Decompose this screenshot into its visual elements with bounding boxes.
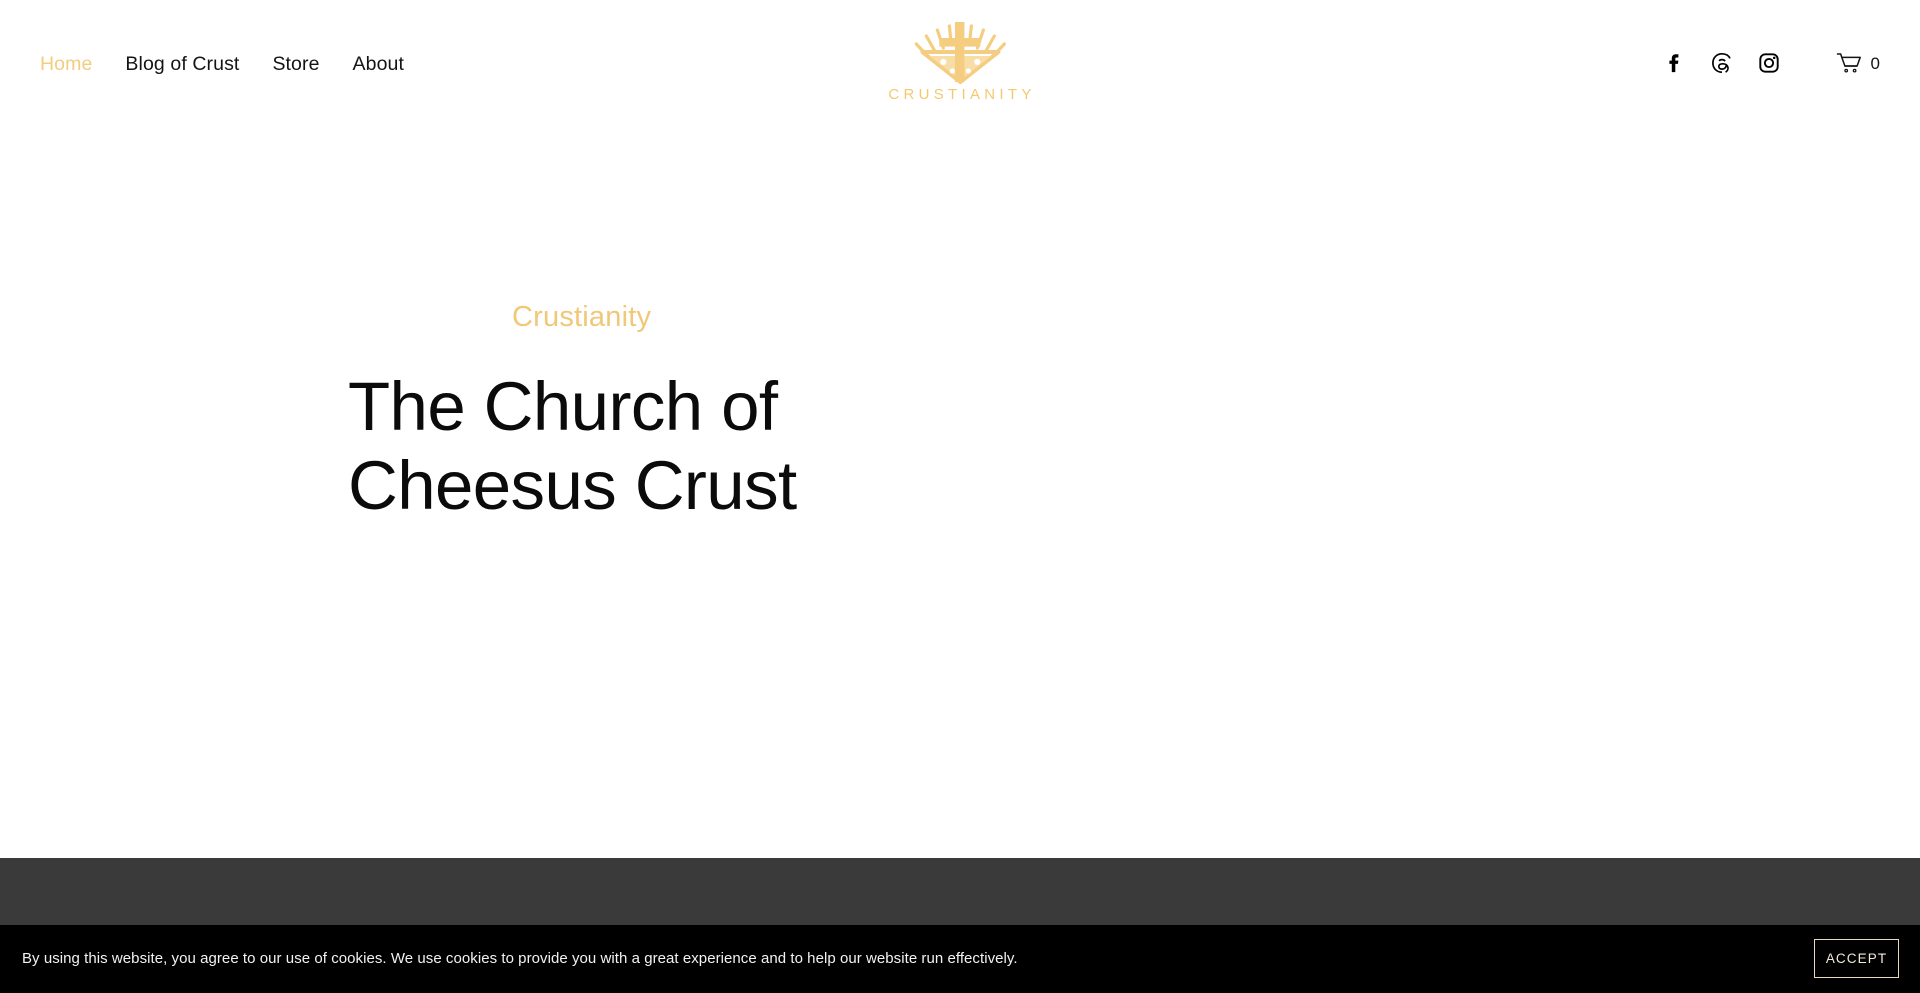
primary-navigation: Home Blog of Crust Store About — [40, 55, 404, 75]
social-links — [1662, 50, 1782, 76]
nav-link-home[interactable]: Home — [40, 55, 92, 75]
instagram-link[interactable] — [1756, 50, 1782, 76]
site-logo[interactable]: CRUSTIANITY — [884, 14, 1035, 102]
facebook-link[interactable] — [1662, 50, 1688, 76]
header-actions: 0 — [1662, 50, 1880, 76]
hero-title: The Church of Cheesus Crust — [348, 367, 1248, 526]
threads-link[interactable] — [1709, 50, 1735, 76]
facebook-icon — [1663, 51, 1687, 75]
shopping-cart-icon — [1836, 52, 1862, 74]
nav-link-store[interactable]: Store — [272, 55, 319, 75]
hero-content: Crustianity The Church of Cheesus Crust — [348, 300, 1248, 525]
threads-icon — [1710, 51, 1734, 75]
cookie-consent-banner: By using this website, you agree to our … — [0, 925, 1920, 993]
cookie-accept-button[interactable]: ACCEPT — [1814, 939, 1899, 978]
cart-count: 0 — [1871, 55, 1880, 72]
cookie-consent-message: By using this website, you agree to our … — [22, 949, 1018, 969]
logo-wordmark: CRUSTIANITY — [884, 87, 1035, 102]
footer-band — [0, 858, 1920, 925]
site-header: Home Blog of Crust Store About — [0, 0, 1920, 135]
pizza-slice-cross-rays-icon — [898, 14, 1022, 84]
nav-link-about[interactable]: About — [353, 55, 404, 75]
cart-button[interactable]: 0 — [1836, 52, 1880, 74]
instagram-icon — [1757, 51, 1781, 75]
hero-section: Crustianity The Church of Cheesus Crust — [0, 135, 1920, 858]
nav-link-blog-of-crust[interactable]: Blog of Crust — [125, 55, 239, 75]
hero-eyebrow: Crustianity — [512, 300, 1248, 335]
